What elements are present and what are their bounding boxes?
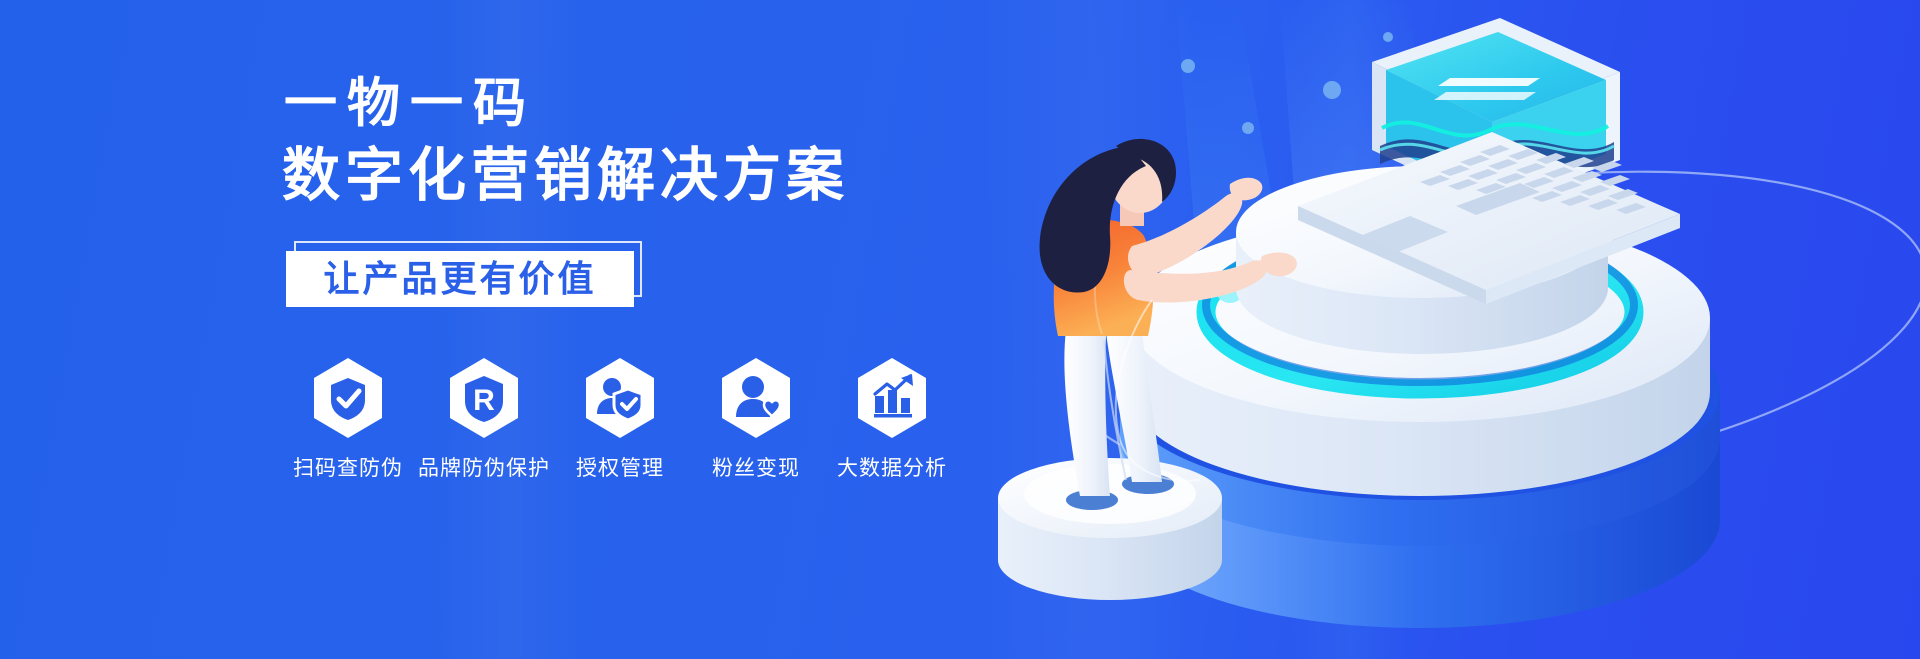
hero-illustration [980, 0, 1920, 659]
headline-secondary: 数字化营销解决方案 [282, 146, 1022, 207]
promo-banner: 一物一码 数字化营销解决方案 让产品更有价值 扫码查防伪 R 品牌防伪保 [0, 0, 1920, 659]
slogan-block: 让产品更有价值 [286, 241, 646, 307]
feature-item[interactable]: 大数据分析 [824, 356, 960, 482]
feature-list: 扫码查防伪 R 品牌防伪保护 授权管理 [280, 356, 960, 482]
bar-chart-arrow-icon [854, 356, 930, 440]
feature-item[interactable]: 扫码查防伪 [280, 356, 416, 482]
shield-registered-icon: R [446, 356, 522, 440]
shield-check-icon [310, 356, 386, 440]
user-heart-icon [718, 356, 794, 440]
feature-item[interactable]: 授权管理 [552, 356, 688, 482]
feature-item[interactable]: 粉丝变现 [688, 356, 824, 482]
banner-copy: 一物一码 数字化营销解决方案 让产品更有价值 [282, 76, 1022, 307]
slogan-text: 让产品更有价值 [323, 261, 596, 297]
feature-label: 粉丝变现 [712, 452, 800, 482]
feature-label: 品牌防伪保护 [418, 452, 550, 482]
headline-primary: 一物一码 [284, 76, 1022, 132]
feature-label: 扫码查防伪 [293, 452, 403, 482]
feature-item[interactable]: R 品牌防伪保护 [416, 356, 552, 482]
feature-label: 授权管理 [576, 452, 664, 482]
feature-label: 大数据分析 [837, 452, 947, 482]
user-shield-check-icon [582, 356, 658, 440]
svg-text:R: R [473, 384, 495, 417]
slogan-plate: 让产品更有价值 [286, 251, 634, 307]
